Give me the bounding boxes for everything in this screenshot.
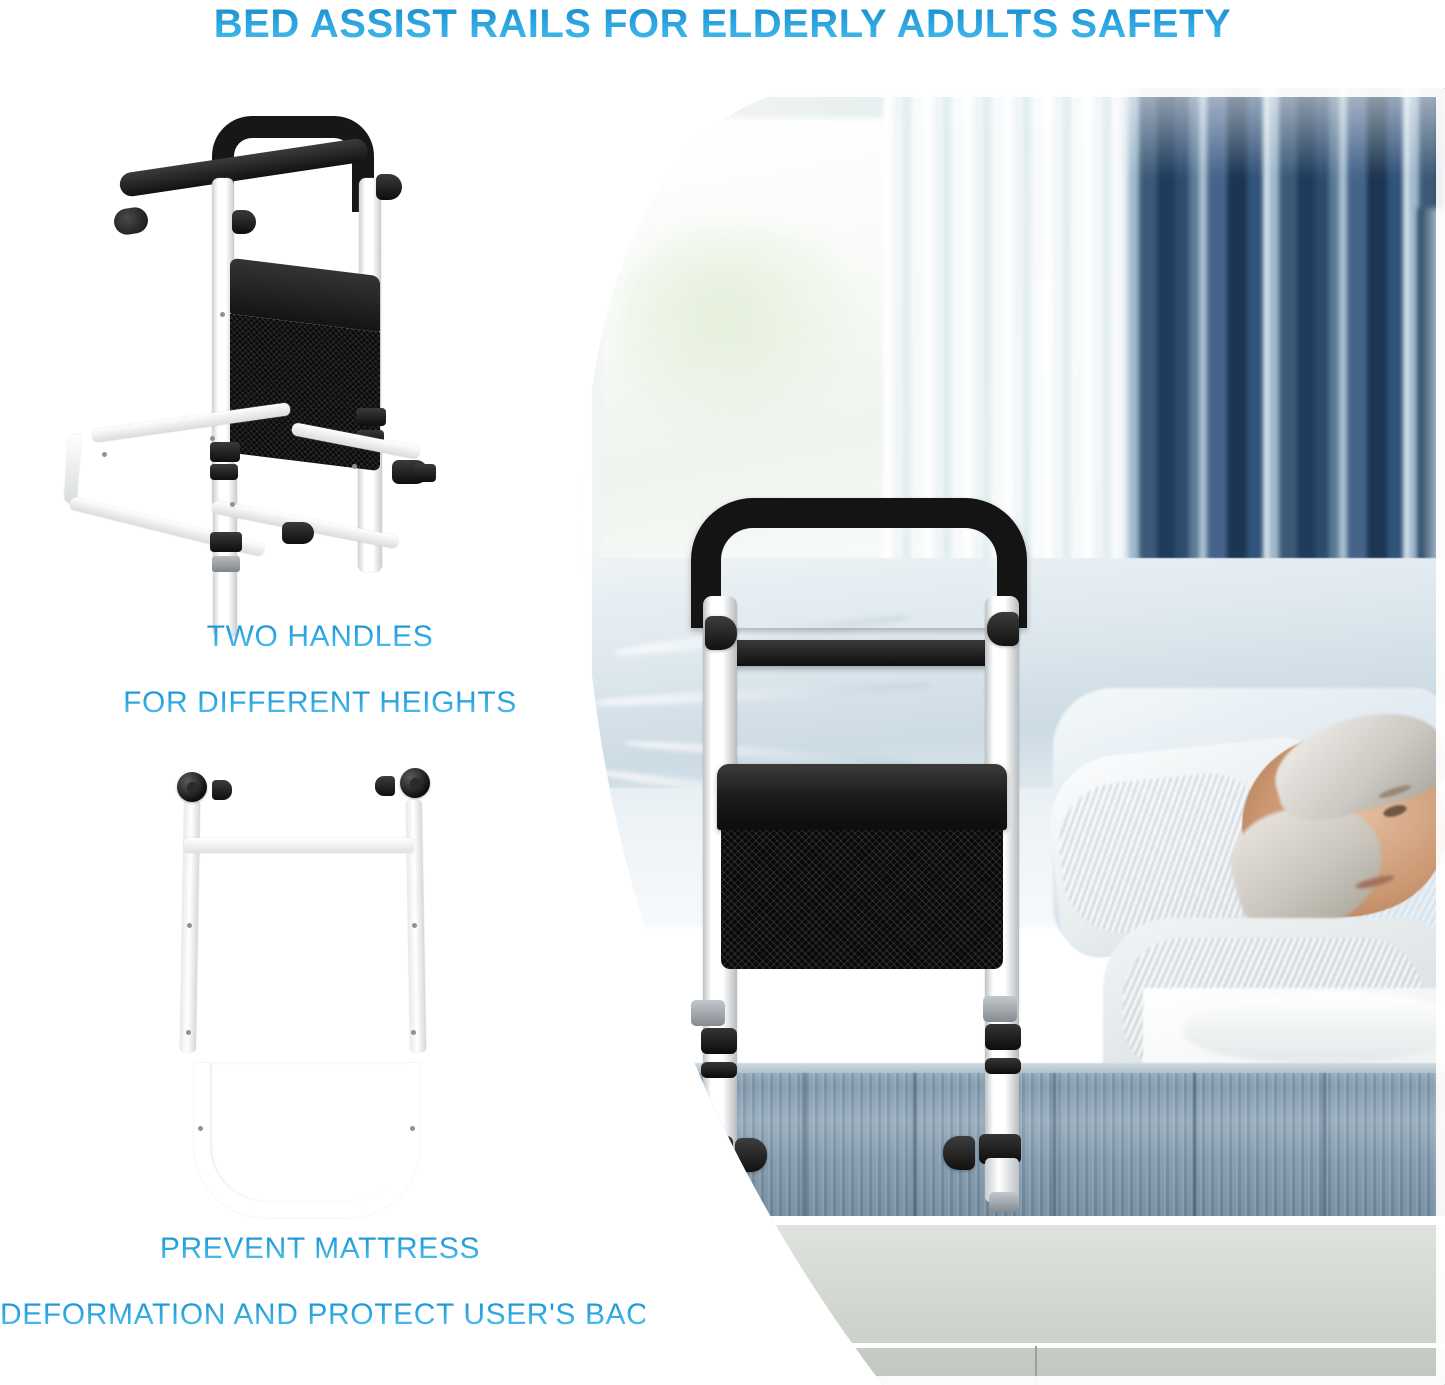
left-wing-screw-icon xyxy=(212,780,232,800)
right-wing-screw-icon xyxy=(375,776,395,796)
base-rivet-icon xyxy=(230,502,235,507)
bed-base-drawer-lower xyxy=(643,1343,1445,1385)
right-adjustment-knob-icon xyxy=(400,768,430,798)
rail-top-handle xyxy=(691,498,1027,628)
caption-two-handles-line1: TWO HANDLES xyxy=(0,620,640,654)
bracket-rivet-icon xyxy=(186,1030,191,1035)
mattress-seam xyxy=(1323,1073,1326,1223)
secondary-handle-end-cap-icon xyxy=(112,206,149,237)
rail-pouch-mesh xyxy=(721,830,1003,969)
caption-two-handles-line2: FOR DIFFERENT HEIGHTS xyxy=(0,686,640,720)
bracket-rivet-icon xyxy=(198,1126,203,1131)
rail-right-foot-clip-icon xyxy=(989,1192,1019,1212)
base-rail-left-curve xyxy=(64,434,82,505)
upper-right-wing-knob-icon xyxy=(376,174,402,200)
base-rail-back-right xyxy=(291,422,421,460)
lifestyle-photo xyxy=(583,88,1445,1385)
bed-assist-rail-in-scene xyxy=(643,488,1063,1218)
rail-left-lower-clamp-icon xyxy=(691,1136,733,1166)
rail-right-gray-clip-icon xyxy=(983,996,1017,1022)
lower-right-clamp-icon xyxy=(414,464,436,482)
caption-prevent-mattress-line1: PREVENT MATTRESS xyxy=(0,1232,640,1266)
curtain-top-highlight xyxy=(1123,88,1445,178)
upper-left-wing-knob-icon xyxy=(232,210,256,234)
rail-left-foot xyxy=(701,1160,735,1204)
bracket-rivet-icon xyxy=(412,923,417,928)
upper-bracket-crossbar xyxy=(184,838,414,853)
base-frame xyxy=(62,412,482,592)
rail-left-gray-clip-icon xyxy=(691,1000,725,1026)
lower-u-bracket xyxy=(194,1063,420,1218)
base-rivet-icon xyxy=(210,436,215,441)
rail-pouch-flap xyxy=(717,764,1007,830)
bracket-rivet-icon xyxy=(410,1126,415,1131)
rail-secondary-handle xyxy=(723,640,1001,666)
product-image-assembled-rail xyxy=(62,112,482,592)
rail-left-lower-wing-icon xyxy=(735,1138,767,1172)
post-rivet-icon xyxy=(220,312,225,317)
rail-left-band-icon xyxy=(701,1028,737,1054)
rail-right-band-icon xyxy=(985,1058,1021,1074)
base-rivet-icon xyxy=(352,464,357,469)
bracket-rivet-icon xyxy=(411,1030,416,1035)
rail-right-wing-knob-icon xyxy=(987,612,1019,646)
base-rivet-icon xyxy=(102,452,107,457)
product-image-base-frame-parts xyxy=(172,758,444,1220)
lower-left-wing-knob-icon xyxy=(282,522,314,544)
rail-left-band-icon xyxy=(701,1062,737,1078)
rail-right-lower-wing-icon xyxy=(943,1136,975,1170)
rail-storage-pouch xyxy=(717,764,1007,969)
base-rail-back xyxy=(91,402,291,443)
left-adjustment-knob-icon xyxy=(177,772,207,802)
rail-right-band-icon xyxy=(985,1024,1021,1050)
rail-left-wing-knob-icon xyxy=(705,616,737,650)
bracket-rivet-icon xyxy=(187,923,192,928)
page-title: BED ASSIST RAILS FOR ELDERLY ADULTS SAFE… xyxy=(0,2,1445,47)
foot-band-icon xyxy=(210,532,242,552)
mattress-seam xyxy=(1193,1073,1196,1223)
caption-prevent-mattress-line2: DEFORMATION AND PROTECT USER'S BACK xyxy=(0,1298,645,1332)
rail-left-foot-clip-icon xyxy=(695,1194,725,1214)
drawer-seam xyxy=(1035,1346,1037,1385)
foot-gray-clip-icon xyxy=(212,556,240,572)
